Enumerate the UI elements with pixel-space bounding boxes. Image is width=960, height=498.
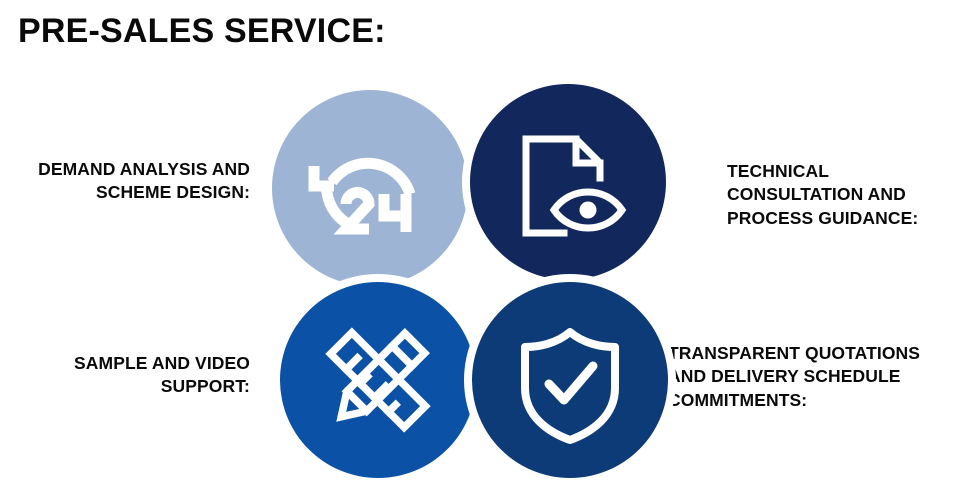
segment-circle-sample-video-support[interactable]	[272, 274, 484, 486]
label-technical-consultation: TECHNICAL CONSULTATION AND PROCESS GUIDA…	[727, 160, 960, 230]
segment-circle-demand-analysis[interactable]	[272, 90, 468, 286]
circle-bottom-left[interactable]	[280, 282, 476, 478]
label-demand-analysis: DEMAND ANALYSIS AND SCHEME DESIGN:	[0, 158, 250, 205]
page-title: PRE-SALES SERVICE:	[18, 10, 386, 53]
infographic-canvas: PRE-SALES SERVICE: DEMAND ANALYSIS AND S…	[0, 0, 960, 498]
circle-bottom-right[interactable]	[472, 282, 668, 478]
label-sample-and-video-support: SAMPLE AND VIDEO SUPPORT:	[0, 352, 250, 399]
circle-top-left[interactable]	[272, 90, 468, 286]
segment-circle-technical-consultation[interactable]	[462, 76, 674, 288]
circle-top-right[interactable]	[470, 84, 666, 280]
circle-cluster-diagram	[0, 0, 960, 498]
segment-circle-transparent-quotations[interactable]	[464, 274, 676, 486]
eye-pupil	[580, 202, 597, 219]
label-transparent-quotations: TRANSPARENT QUOTATIONS AND DELIVERY SCHE…	[668, 342, 960, 412]
